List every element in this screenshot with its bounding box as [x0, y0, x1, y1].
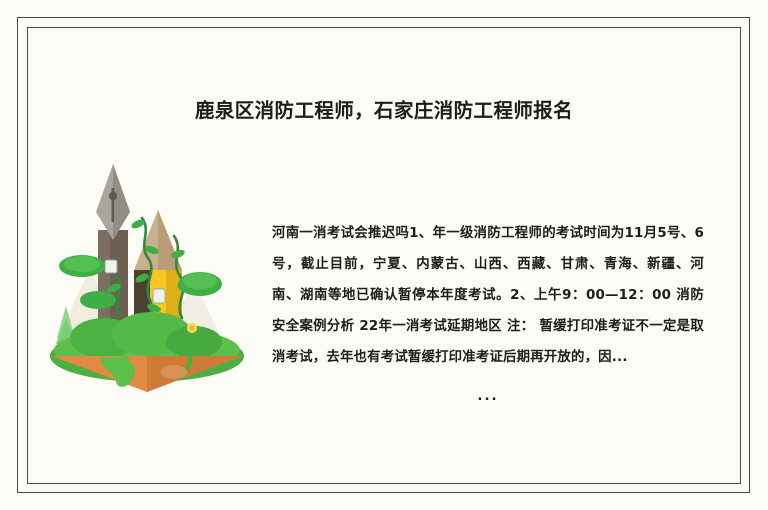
floating-island-illustration — [42, 158, 252, 393]
article-body-text: 河南一消考试会推迟吗1、年一级消防工程师的考试时间为11月5号、6号，截止目前，… — [272, 218, 704, 373]
page-root: 鹿泉区消防工程师，石家庄消防工程师报名 — [0, 0, 768, 510]
pen-tower — [96, 164, 130, 338]
article-truncation-ellipsis: ... — [272, 386, 704, 408]
page-title: 鹿泉区消防工程师，石家庄消防工程师报名 — [0, 97, 768, 125]
